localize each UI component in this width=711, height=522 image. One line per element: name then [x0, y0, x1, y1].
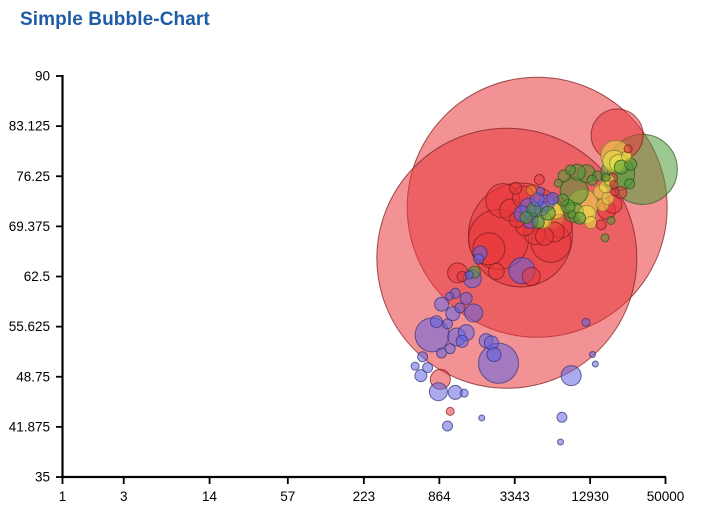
x-tick-label: 12930 [571, 489, 609, 504]
x-tick-label: 3 [120, 489, 128, 504]
y-tick-label: 48.75 [16, 369, 50, 384]
bubble-point [460, 292, 472, 304]
bubble-point [624, 145, 632, 153]
y-tick-label: 90 [35, 69, 50, 84]
chart-plot-area: 3541.87548.7555.62562.569.37576.2583.125… [0, 0, 711, 522]
bubble-point [510, 182, 522, 194]
y-tick-label: 62.5 [24, 269, 50, 284]
x-tick-label: 1 [59, 489, 67, 504]
y-tick-label: 35 [35, 470, 50, 485]
bubble-point [554, 179, 562, 187]
bubble-point [587, 175, 597, 185]
bubble-point [418, 352, 428, 362]
bubble-chart-app: Simple Bubble-Chart 3541.87548.7555.6256… [0, 0, 711, 522]
bubble-point [534, 175, 544, 185]
bubble-point [607, 216, 615, 224]
bubble-point [526, 185, 536, 195]
bubble-point [488, 263, 504, 279]
x-tick-label: 864 [428, 489, 451, 504]
bubble-point [611, 188, 619, 196]
x-tick-label: 14 [202, 489, 218, 504]
bubble-point [585, 217, 597, 229]
bubble-point [592, 361, 598, 367]
bubble-point [625, 179, 635, 189]
bubble-point [430, 316, 442, 328]
bubble-point [411, 362, 419, 370]
bubble-point [465, 304, 483, 322]
bubble-point [442, 319, 452, 329]
bubble-point [522, 268, 540, 286]
x-tick-label: 3343 [500, 489, 530, 504]
x-axis-ticks: 13145722386433431293050000 [59, 477, 685, 504]
bubble-point [568, 211, 576, 219]
bubble-point [456, 335, 468, 347]
y-axis-ticks: 3541.87548.7555.62562.569.37576.2583.125… [9, 69, 63, 485]
y-tick-label: 55.625 [9, 319, 50, 334]
bubble-point [541, 206, 555, 220]
bubble-point [610, 181, 618, 189]
bubble-point [557, 412, 567, 422]
bubble-point [423, 363, 433, 373]
bubble-point [536, 187, 544, 195]
bubble-point [455, 303, 465, 313]
bubble-point [590, 352, 596, 358]
bubble-point [547, 192, 559, 204]
bubble-point [445, 344, 455, 354]
bubble-point [535, 227, 553, 245]
bubble-point [582, 318, 590, 326]
x-tick-label: 223 [353, 489, 376, 504]
bubble-point [532, 217, 544, 229]
bubbles-layer [377, 77, 678, 445]
bubble-point [479, 415, 485, 421]
y-tick-label: 41.875 [9, 419, 50, 434]
bubble-point [474, 254, 484, 264]
y-tick-label: 76.25 [16, 169, 50, 184]
y-tick-label: 83.125 [9, 119, 50, 134]
bubble-point [558, 439, 564, 445]
bubble-point [561, 366, 581, 386]
bubble-point [446, 407, 454, 415]
bubble-point [442, 421, 452, 431]
x-tick-label: 57 [280, 489, 295, 504]
bubble-point [446, 292, 454, 300]
bubble-point [465, 271, 473, 279]
bubble-point [566, 165, 576, 175]
bubble-point [520, 211, 532, 223]
bubble-point [460, 389, 468, 397]
y-tick-label: 69.375 [9, 219, 50, 234]
x-tick-label: 50000 [647, 489, 685, 504]
bubble-point [601, 234, 609, 242]
bubble-point [487, 348, 501, 362]
bubble-point [602, 173, 610, 181]
bubble-point [429, 383, 447, 401]
bubble-point [596, 220, 606, 230]
